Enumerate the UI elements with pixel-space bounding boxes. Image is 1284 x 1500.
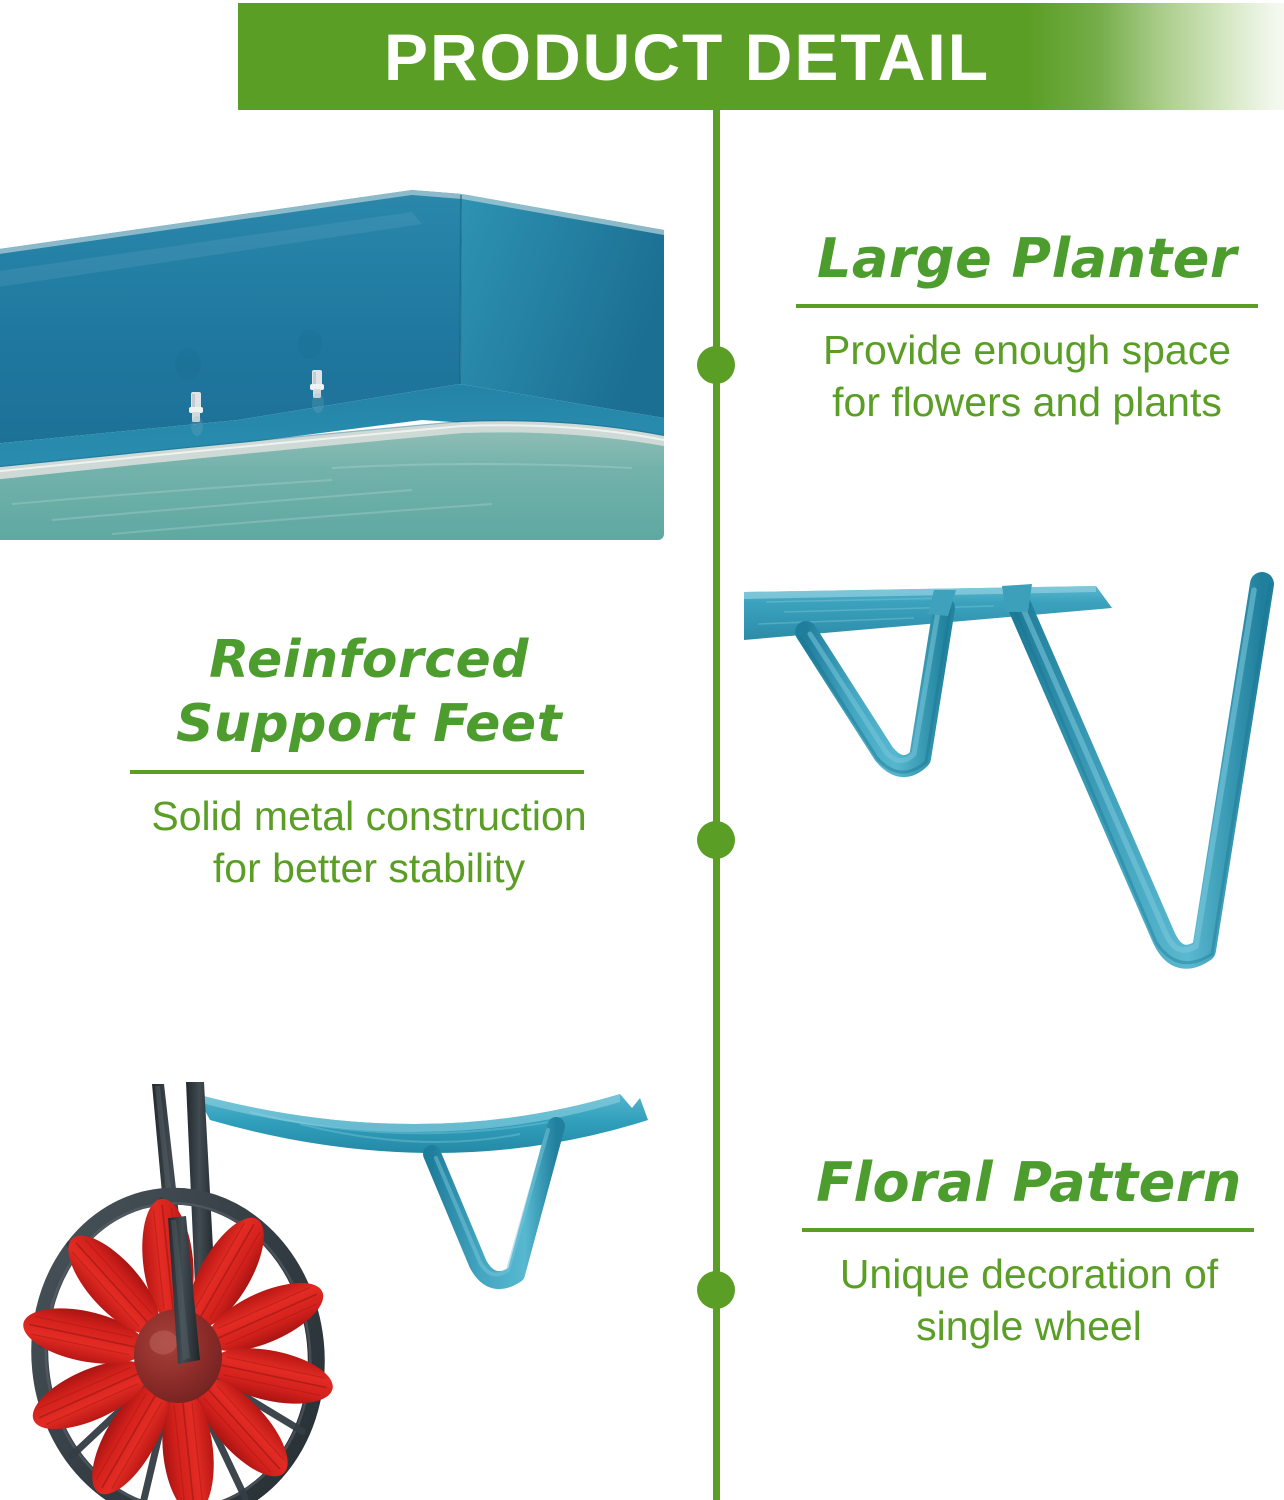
feature-title-floral-pattern: Floral Pattern (790, 1152, 1268, 1214)
photo-large-planter (0, 168, 664, 540)
feature-body-support-feet: Solid metal construction for better stab… (104, 790, 634, 894)
photo-support-feet (744, 568, 1284, 988)
header-banner: PRODUCT DETAIL (238, 3, 1284, 110)
photo-floral-wheel (0, 1068, 660, 1500)
feature-body-line1: Provide enough space (788, 324, 1266, 376)
feature-title-large-planter: Large Planter (788, 228, 1266, 290)
product-detail-infographic: PRODUCT DETAIL (0, 0, 1284, 1500)
feature-block-floral-pattern: Floral Pattern Unique decoration of sing… (790, 1152, 1268, 1352)
feature-body-line2: single wheel (790, 1300, 1268, 1352)
feature-divider-floral-pattern (802, 1228, 1254, 1232)
feature-body-line1: Unique decoration of (790, 1248, 1268, 1300)
feature-block-support-feet: Reinforced Support Feet Solid metal cons… (104, 628, 634, 894)
feature-body-line2: for flowers and plants (788, 376, 1266, 428)
feature-divider-support-feet (130, 770, 584, 774)
feature-body-line2: for better stability (104, 842, 634, 894)
page-title: PRODUCT DETAIL (384, 21, 990, 93)
feature-title-support-feet: Reinforced Support Feet (104, 628, 634, 756)
feature-title-line2: Support Feet (104, 692, 634, 756)
feature-title-line1: Reinforced (104, 628, 634, 692)
timeline-dot-floral-pattern (697, 1271, 735, 1309)
feature-body-line1: Solid metal construction (104, 790, 634, 842)
feature-block-large-planter: Large Planter Provide enough space for f… (788, 228, 1266, 428)
feature-divider-large-planter (796, 304, 1258, 308)
timeline-dot-large-planter (697, 346, 735, 384)
timeline-dot-support-feet (697, 821, 735, 859)
feature-body-large-planter: Provide enough space for flowers and pla… (788, 324, 1266, 428)
feature-body-floral-pattern: Unique decoration of single wheel (790, 1248, 1268, 1352)
